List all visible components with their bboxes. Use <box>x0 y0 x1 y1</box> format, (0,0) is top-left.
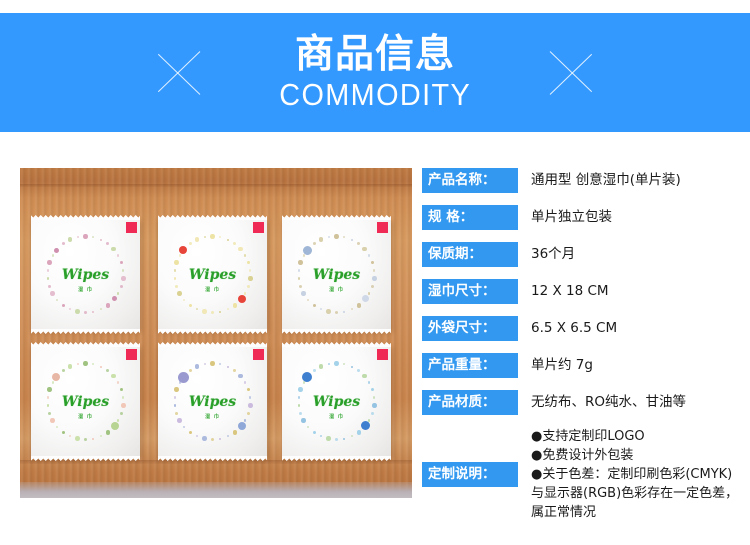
sachet-corner-tab <box>253 222 264 233</box>
chevron-right-icon <box>504 30 550 116</box>
spec-label-wipe-size: 湿巾尺寸： <box>422 279 518 304</box>
sachet-corner-tab <box>377 222 388 233</box>
spec-value-product-name: 通用型 创意湿巾(单片装) <box>518 168 740 193</box>
table-row: 外袋尺寸： 6.5 X 6.5 CM <box>422 316 740 341</box>
sachet-sub-text: 湿 巾 <box>158 413 267 420</box>
spec-value-wipe-size: 12 X 18 CM <box>518 279 740 304</box>
sachet-corner-tab <box>377 349 388 360</box>
customization-line: 属正常情况 <box>531 503 740 522</box>
sachet-sub-text: 湿 巾 <box>31 286 140 293</box>
customization-line: ●关于色差：定制印刷色彩(CMYK) <box>531 465 740 484</box>
sachet-grid: Wipes湿 巾Wipes湿 巾Wipes湿 巾Wipes湿 巾Wipes湿 巾… <box>20 168 412 498</box>
sachet-brand-text: Wipes <box>282 395 391 409</box>
table-row: 产品重量： 单片约 7g <box>422 353 740 378</box>
sachet-sub-text: 湿 巾 <box>31 413 140 420</box>
sachet-sub-text: 湿 巾 <box>282 286 391 293</box>
product-sachet: Wipes湿 巾 <box>31 346 140 457</box>
spec-label-pouch-size: 外袋尺寸： <box>422 316 518 341</box>
spec-value-shelf-life: 36个月 <box>518 242 740 267</box>
spec-label-product-name: 产品名称： <box>422 168 518 193</box>
spec-value-specification: 单片独立包装 <box>518 205 740 230</box>
sachet-corner-tab <box>126 222 137 233</box>
banner-titles: 商品信息 COMMODITY <box>246 33 504 113</box>
product-sachet: Wipes湿 巾 <box>158 346 267 457</box>
customization-line: ●免费设计外包装 <box>531 446 740 465</box>
chevron-left-icon <box>200 30 246 116</box>
sachet-sub-text: 湿 巾 <box>282 413 391 420</box>
sachet-brand-text: Wipes <box>282 268 391 282</box>
table-row: 产品材质： 无纺布、RO纯水、甘油等 <box>422 390 740 415</box>
table-row: 湿巾尺寸： 12 X 18 CM <box>422 279 740 304</box>
spec-value-customization: ●支持定制印LOGO ●免费设计外包装 ●关于色差：定制印刷色彩(CMYK) 与… <box>518 427 740 522</box>
spec-label-customization: 定制说明： <box>422 462 518 487</box>
product-sachet: Wipes湿 巾 <box>282 346 391 457</box>
product-sachet: Wipes湿 巾 <box>282 219 391 330</box>
spec-label-shelf-life: 保质期： <box>422 242 518 267</box>
spec-value-weight: 单片约 7g <box>518 353 740 378</box>
banner-title-cn: 商品信息 <box>272 33 478 77</box>
customization-line: 与显示器(RGB)色彩存在一定色差， <box>531 484 740 503</box>
spec-label-material: 产品材质： <box>422 390 518 415</box>
sachet-sub-text: 湿 巾 <box>158 286 267 293</box>
spec-value-pouch-size: 6.5 X 6.5 CM <box>518 316 740 341</box>
product-sachet: Wipes湿 巾 <box>31 219 140 330</box>
product-photo: Wipes湿 巾Wipes湿 巾Wipes湿 巾Wipes湿 巾Wipes湿 巾… <box>20 168 412 498</box>
sachet-brand-text: Wipes <box>31 395 140 409</box>
table-row: 定制说明： ●支持定制印LOGO ●免费设计外包装 ●关于色差：定制印刷色彩(C… <box>422 427 740 522</box>
sachet-corner-tab <box>253 349 264 360</box>
commodity-banner: 商品信息 COMMODITY <box>0 13 750 132</box>
product-info-page: 商品信息 COMMODITY Wipes湿 巾Wipes湿 巾Wipes湿 巾W… <box>0 0 750 545</box>
table-row: 保质期： 36个月 <box>422 242 740 267</box>
spec-label-specification: 规 格： <box>422 205 518 230</box>
product-sachet: Wipes湿 巾 <box>158 219 267 330</box>
sachet-brand-text: Wipes <box>31 268 140 282</box>
spec-label-weight: 产品重量： <box>422 353 518 378</box>
sachet-brand-text: Wipes <box>158 268 267 282</box>
customization-line: ●支持定制印LOGO <box>531 427 740 446</box>
photo-bottom-edge <box>20 482 412 498</box>
spec-table: 产品名称： 通用型 创意湿巾(单片装) 规 格： 单片独立包装 保质期： 36个… <box>422 168 740 522</box>
sachet-brand-text: Wipes <box>158 395 267 409</box>
banner-title-en: COMMODITY <box>279 78 471 112</box>
table-row: 规 格： 单片独立包装 <box>422 205 740 230</box>
spec-value-material: 无纺布、RO纯水、甘油等 <box>518 390 740 415</box>
sachet-corner-tab <box>126 349 137 360</box>
table-row: 产品名称： 通用型 创意湿巾(单片装) <box>422 168 740 193</box>
